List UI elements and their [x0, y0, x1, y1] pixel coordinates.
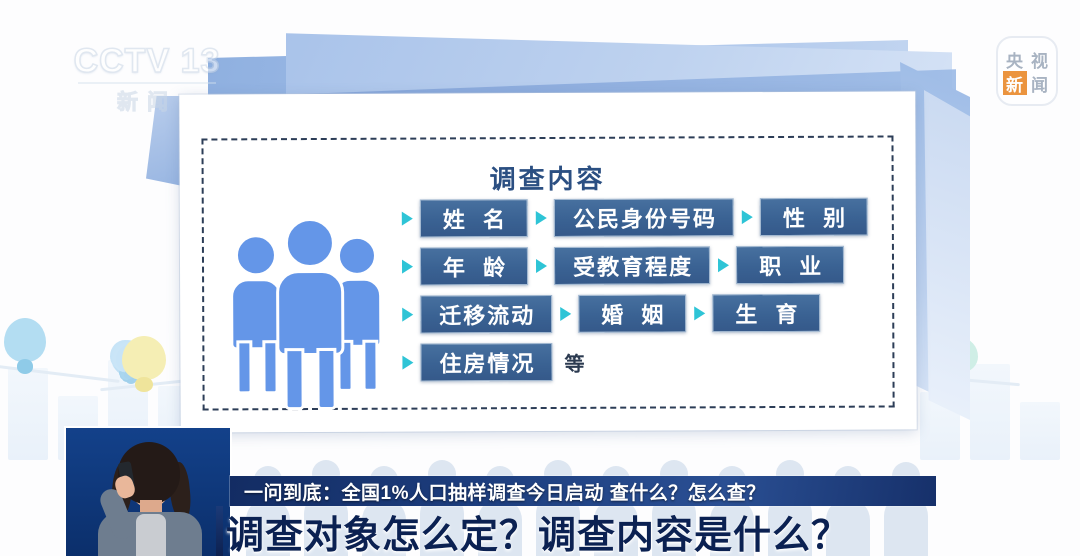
anchor-shirt — [136, 514, 166, 556]
arrow-marker-icon — [742, 210, 753, 224]
tag-item[interactable]: 性 别 — [760, 198, 868, 236]
cctv-news-app-logo: 央 视 新 闻 — [996, 36, 1058, 106]
page-title: 调查内容 — [204, 158, 892, 198]
tag-item[interactable]: 年 龄 — [420, 247, 528, 285]
survey-content-rows: 姓 名 公民身份号码 性 别 年 龄 受教育程度 职 业 迁移流动 — [402, 198, 879, 392]
app-logo-row-top: 央 视 — [1003, 47, 1052, 71]
app-logo-char-4: 闻 — [1028, 71, 1052, 95]
cctv13-logo: CCTV 13 新闻 — [72, 42, 222, 114]
tag-item[interactable]: 婚 姻 — [578, 294, 686, 332]
arrow-marker-icon — [718, 258, 729, 272]
content-card: 调查内容 — [179, 91, 916, 432]
etcetera-label: 等 — [564, 347, 584, 376]
three-people-icon — [226, 204, 395, 385]
dashed-content-frame: 调查内容 — [201, 135, 894, 410]
lower-third-headline: 调查对象怎么定？调查内容是什么？ — [226, 506, 1080, 556]
arrow-marker-icon — [536, 211, 547, 225]
headline-text: 调查对象怎么定？调查内容是什么？ — [226, 504, 850, 556]
tag-item[interactable]: 生 育 — [712, 294, 820, 332]
tag-item[interactable]: 住房情况 — [420, 343, 552, 382]
tag-row: 住房情况 等 — [402, 342, 878, 382]
arrow-marker-icon — [402, 356, 413, 370]
app-logo-char-2: 视 — [1028, 47, 1052, 71]
paper-tab-right-inner — [924, 90, 970, 420]
headline-accent-bar — [216, 506, 223, 556]
cctv-logo-main: CCTV 13 — [72, 42, 222, 81]
lower-third-topic: 一问到底：全国1%人口抽样调查今日启动 查什么？怎么查？ — [244, 478, 766, 505]
tag-item[interactable]: 受教育程度 — [554, 246, 710, 285]
deco-pin-blue — [4, 318, 46, 374]
arrow-marker-icon — [560, 307, 571, 321]
deco-pin-yellow — [122, 336, 166, 392]
tag-row: 迁移流动 婚 姻 生 育 — [402, 294, 878, 334]
arrow-marker-icon — [536, 259, 547, 273]
tag-row: 姓 名 公民身份号码 性 别 — [402, 198, 878, 238]
arrow-marker-icon — [694, 306, 705, 320]
tag-item[interactable]: 职 业 — [736, 246, 844, 284]
news-anchor-video — [66, 428, 230, 556]
lower-third-strip: 一问到底：全国1%人口抽样调查今日启动 查什么？怎么查？ — [230, 476, 936, 506]
app-logo-row-bottom: 新 闻 — [1003, 71, 1052, 95]
arrow-marker-icon — [402, 212, 413, 226]
broadcast-frame: 调查内容 — [0, 0, 1080, 556]
cctv-logo-rule — [78, 82, 216, 84]
arrow-marker-icon — [402, 260, 413, 274]
app-logo-char-1: 央 — [1003, 47, 1027, 71]
app-logo-char-3: 新 — [1003, 71, 1027, 95]
tag-item[interactable]: 姓 名 — [420, 199, 528, 237]
tag-item[interactable]: 迁移流动 — [420, 295, 552, 334]
tag-row: 年 龄 受教育程度 职 业 — [402, 246, 878, 286]
arrow-marker-icon — [402, 308, 413, 322]
tag-item[interactable]: 公民身份号码 — [554, 198, 734, 237]
cctv-logo-sub: 新闻 — [72, 86, 222, 116]
